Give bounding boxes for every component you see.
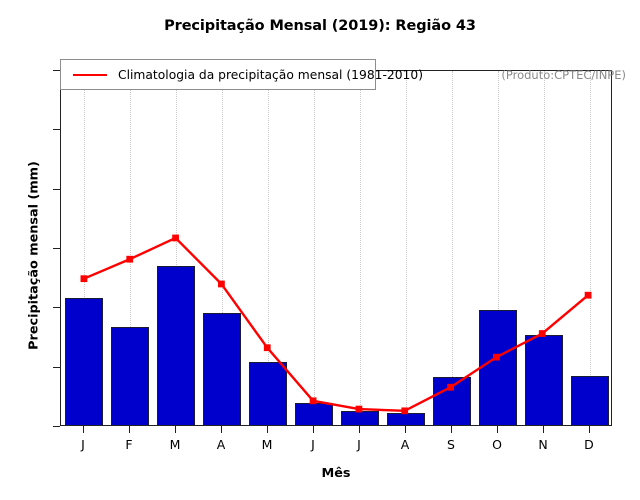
chart-title: Precipitação Mensal (2019): Região 43 — [0, 18, 640, 34]
x-tick-mark — [221, 426, 222, 433]
y-tick-mark — [53, 307, 60, 308]
x-tick-label: J — [81, 437, 85, 452]
x-tick-label: N — [538, 437, 547, 452]
x-tick-mark — [313, 426, 314, 433]
x-tick-mark — [405, 426, 406, 433]
x-tick-mark — [451, 426, 452, 433]
y-tick-mark — [53, 367, 60, 368]
legend: Climatologia da precipitação mensal (198… — [60, 59, 376, 90]
bar — [433, 377, 471, 425]
x-tick-label: M — [262, 437, 273, 452]
x-tick-mark — [359, 426, 360, 433]
x-axis-label: Mês — [60, 466, 612, 481]
bar — [571, 376, 609, 425]
x-tick-mark — [589, 426, 590, 433]
y-tick-mark — [53, 248, 60, 249]
x-tick-label: A — [217, 437, 226, 452]
legend-item-label: Climatologia da precipitação mensal (198… — [118, 68, 423, 82]
x-tick-label: J — [357, 437, 361, 452]
x-tick-label: S — [447, 437, 455, 452]
y-tick-mark — [53, 426, 60, 427]
bar — [249, 362, 287, 425]
x-tick-mark — [83, 426, 84, 433]
y-axis-label: Precipitação mensal (mm) — [27, 106, 42, 406]
y-tick-mark — [53, 129, 60, 130]
x-tick-label: O — [492, 437, 502, 452]
y-tick-mark — [53, 70, 60, 71]
bar — [525, 335, 563, 425]
x-tick-label: A — [401, 437, 410, 452]
bar — [203, 313, 241, 425]
x-tick-mark — [497, 426, 498, 433]
x-tick-mark — [267, 426, 268, 433]
plot-inner — [61, 71, 611, 425]
bar — [111, 327, 149, 425]
bar — [387, 413, 425, 425]
gridline-vertical — [452, 71, 453, 425]
bar — [341, 411, 379, 425]
x-tick-label: M — [170, 437, 181, 452]
legend-line-swatch-icon — [73, 74, 107, 76]
x-tick-label: F — [125, 437, 132, 452]
source-annotation: (Produto:CPTEC/INPE) — [501, 68, 626, 82]
bar — [157, 266, 195, 425]
plot-area — [60, 70, 612, 426]
x-tick-mark — [175, 426, 176, 433]
bar — [295, 403, 333, 425]
gridline-vertical — [406, 71, 407, 425]
gridline-vertical — [360, 71, 361, 425]
x-tick-mark — [129, 426, 130, 433]
x-tick-label: J — [311, 437, 315, 452]
gridline-vertical — [314, 71, 315, 425]
bar — [479, 310, 517, 425]
bar — [65, 298, 103, 425]
x-tick-mark — [543, 426, 544, 433]
x-tick-label: D — [584, 437, 594, 452]
y-tick-mark — [53, 189, 60, 190]
chart-figure: Precipitação Mensal (2019): Região 43 Pr… — [0, 0, 640, 500]
gridline-vertical — [590, 71, 591, 425]
